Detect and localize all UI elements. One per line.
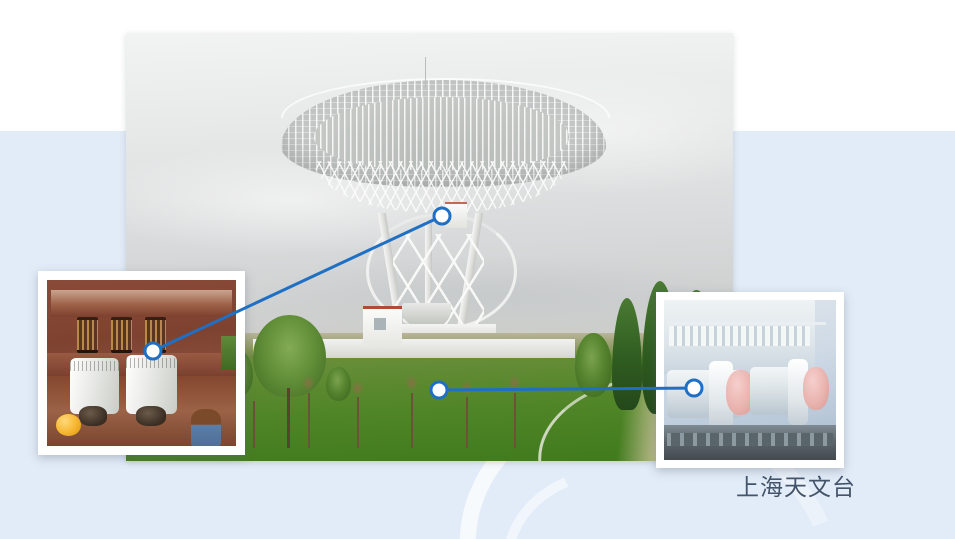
tree-round-1 <box>575 333 611 397</box>
inset-left-motor-2-bolt-ring <box>126 358 177 368</box>
inset-photo-left[interactable] <box>38 271 245 455</box>
inset-right-fin-row <box>669 326 810 347</box>
inset-left-orange-sphere <box>56 414 81 436</box>
inset-left-motor-1-bolt-ring <box>70 361 119 371</box>
inset-left-gear-comb-1 <box>77 320 98 350</box>
inset-left-image <box>47 280 236 446</box>
telescope-service-cabin <box>445 202 467 228</box>
sapling-2 <box>357 397 359 448</box>
slide-canvas: 上海天文台 <box>0 0 955 539</box>
inset-left-gear-comb-3 <box>145 320 166 350</box>
sapling-5 <box>514 393 516 449</box>
inset-right-base-bolts <box>667 433 832 446</box>
inset-left-motor-1-shaft <box>79 406 107 426</box>
tree-willow-trunk <box>287 388 290 448</box>
sapling-1 <box>308 393 310 449</box>
sapling-6 <box>253 401 255 448</box>
inset-photo-right[interactable] <box>656 292 844 468</box>
inset-left-gear-comb-2 <box>111 320 132 350</box>
sapling-2-crown <box>351 380 364 396</box>
sapling-3 <box>411 393 413 449</box>
sapling-4 <box>466 397 468 448</box>
service-hut-window <box>374 318 386 331</box>
inset-left-motor-2-shaft <box>136 406 166 426</box>
page-caption: 上海天文台 <box>736 468 856 502</box>
tree-willow <box>253 315 326 396</box>
sapling-4-crown <box>460 380 473 396</box>
inset-left-grass-sliver <box>221 336 236 369</box>
telescope-feed-mast <box>425 57 427 87</box>
inset-left-machine-frame <box>51 290 232 317</box>
inset-right-image <box>664 300 836 460</box>
tree-round-3 <box>326 367 350 401</box>
inset-left-worker <box>191 409 221 446</box>
inset-right-motor-2-endcap <box>803 367 829 410</box>
